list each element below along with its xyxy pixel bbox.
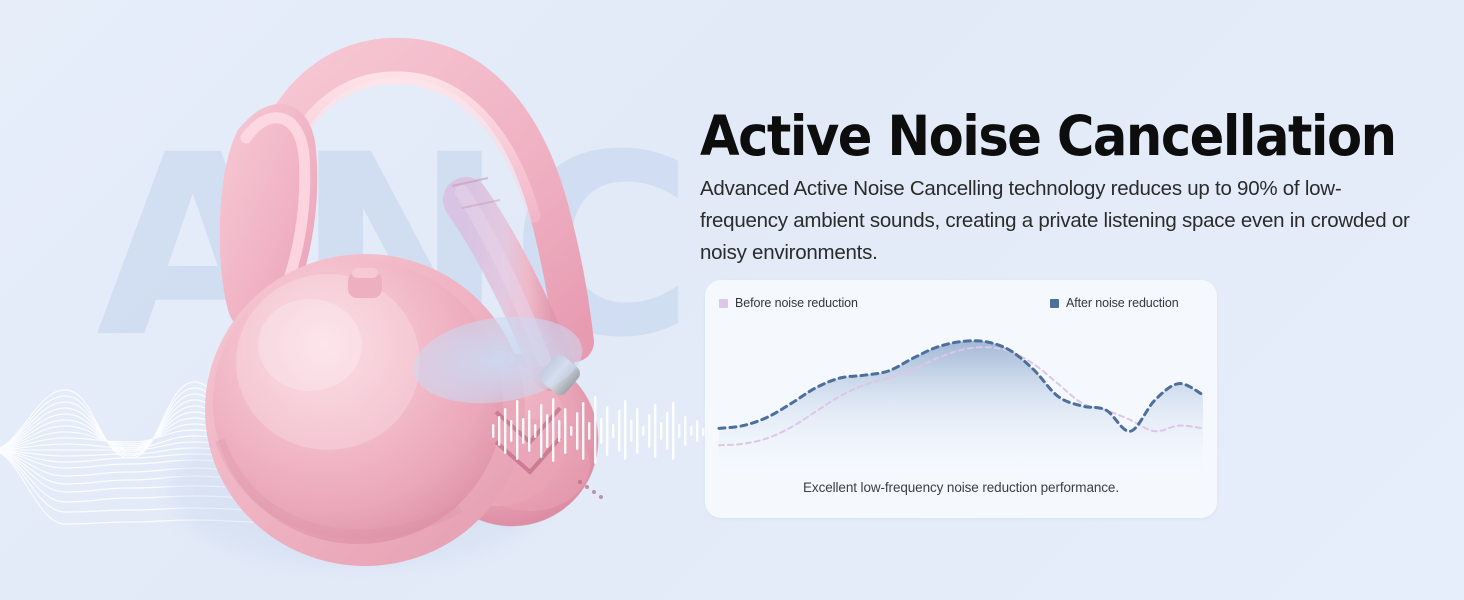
noise-reduction-chart-card: Before noise reduction After noise reduc… — [705, 280, 1217, 518]
page-title: Active Noise Cancellation — [700, 105, 1388, 167]
legend-item-before: Before noise reduction — [719, 296, 858, 310]
description-text: Advanced Active Noise Cancelling technol… — [700, 173, 1418, 269]
content-column: Active Noise Cancellation Advanced Activ… — [700, 0, 1440, 600]
legend-label-after: After noise reduction — [1066, 296, 1179, 310]
anc-product-banner: ANC — [0, 0, 1464, 600]
chart-legend: Before noise reduction After noise reduc… — [705, 296, 1217, 312]
headphones-illustration — [60, 10, 680, 590]
chart-caption: Excellent low-frequency noise reduction … — [705, 480, 1217, 495]
headphones-product-image — [60, 10, 680, 590]
noise-reduction-line-chart — [705, 314, 1217, 476]
legend-item-after: After noise reduction — [1050, 296, 1179, 310]
legend-label-before: Before noise reduction — [735, 296, 858, 310]
audio-waveform-bars — [490, 390, 720, 470]
legend-swatch-after — [1050, 299, 1059, 308]
earcup-left — [205, 254, 525, 566]
control-knob — [348, 268, 382, 298]
legend-swatch-before — [719, 299, 728, 308]
